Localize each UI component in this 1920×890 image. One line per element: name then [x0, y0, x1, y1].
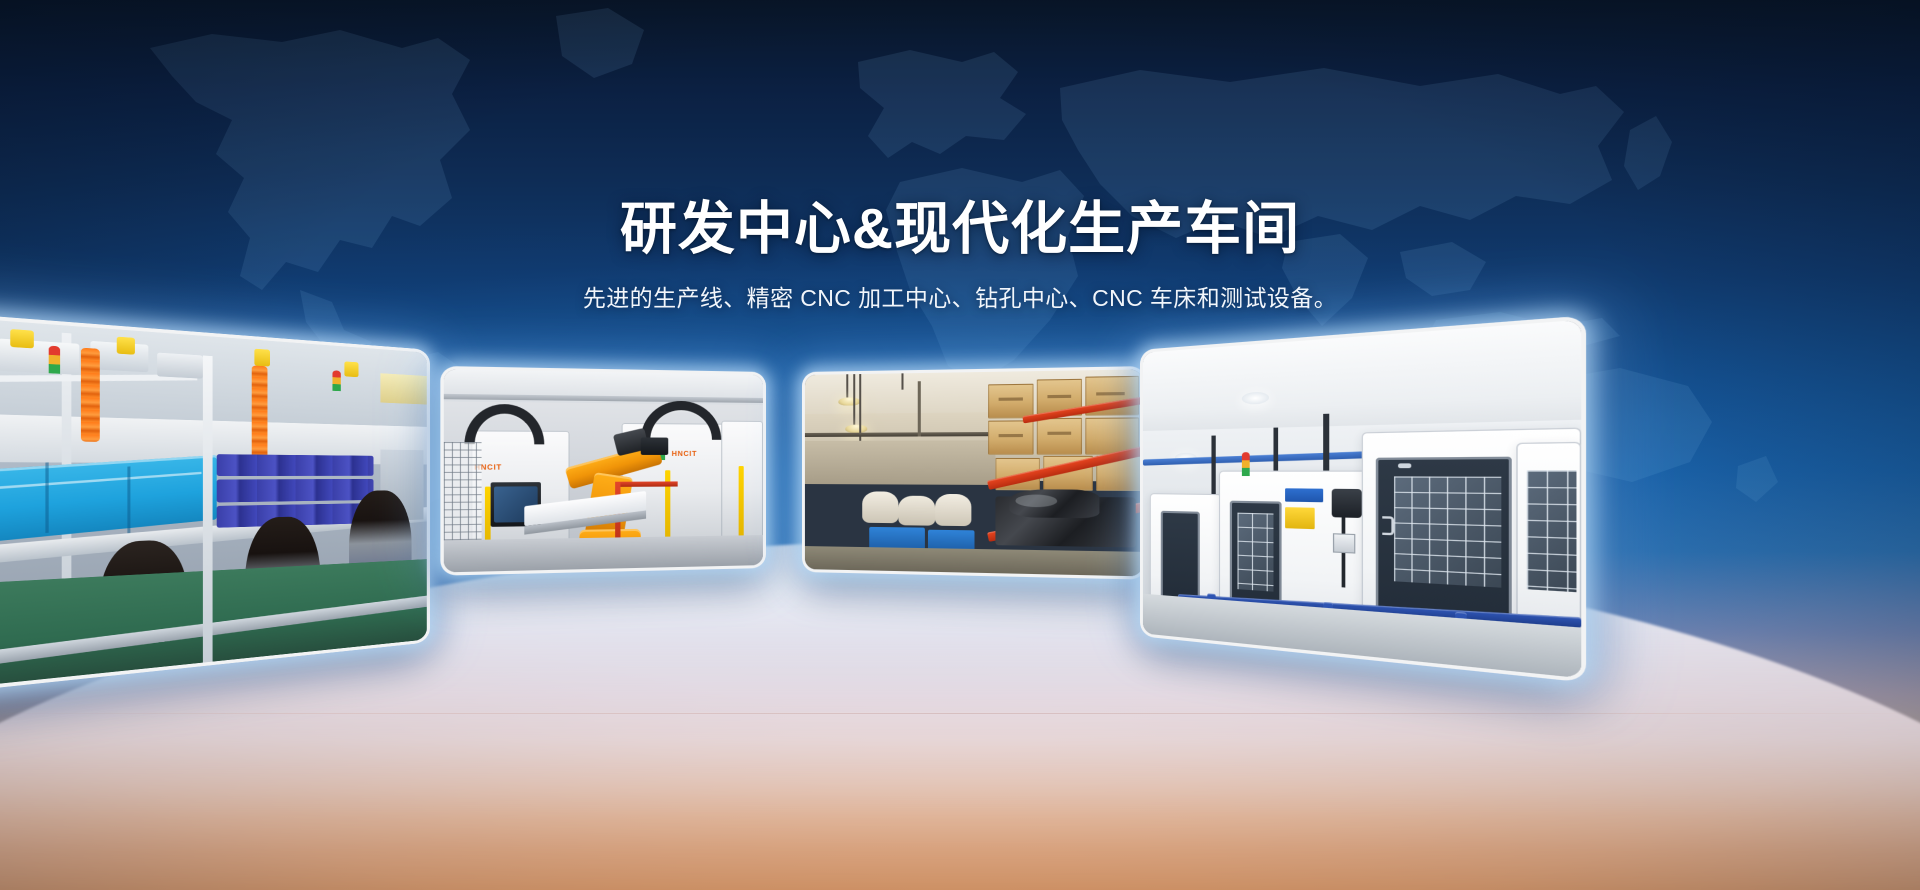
gallery-panel-cnc-lathe-room[interactable]: [1140, 315, 1586, 682]
hero-text-block: 研发中心&现代化生产车间 先进的生产线、精密 CNC 加工中心、钻孔中心、CNC…: [0, 196, 1920, 314]
panel-frame: [1140, 315, 1586, 682]
brand-decal: [1285, 489, 1322, 502]
pendant-lamp: [838, 398, 860, 406]
cable-carrier: [464, 404, 544, 445]
panel-frame: [0, 312, 430, 694]
wall-socket: [1333, 533, 1355, 553]
gallery-panel-cnc-machining-center[interactable]: HNCIT HNCIT: [440, 366, 766, 576]
white-sack: [863, 492, 899, 524]
gallery-panel-warehouse[interactable]: [802, 366, 1146, 580]
machine-brand-label: HNCIT: [672, 451, 697, 458]
yellow-tag: [116, 336, 134, 354]
white-sack: [898, 496, 934, 526]
photo-assembly-line: [0, 316, 427, 689]
page-subtitle: 先进的生产线、精密 CNC 加工中心、钻孔中心、CNC 车床和测试设备。: [0, 282, 1920, 314]
safety-mesh-fence: [444, 442, 481, 548]
panel-frame: [802, 366, 1146, 580]
photo-cnc-machining-center: HNCIT HNCIT: [444, 369, 763, 572]
photo-cnc-lathe-room: [1143, 320, 1581, 679]
safety-rail: [615, 482, 678, 487]
machine-window: [1237, 512, 1272, 592]
door-handle: [1398, 464, 1411, 469]
yellow-tag: [345, 362, 359, 378]
cable-carrier: [640, 400, 720, 439]
status-tower-light: [48, 345, 59, 374]
machine-window: [1393, 477, 1500, 587]
white-sack: [935, 494, 972, 526]
blue-bin-rack: [217, 479, 373, 502]
hero-banner: 研发中心&现代化生产车间 先进的生产线、精密 CNC 加工中心、钻孔中心、CNC…: [0, 0, 1920, 890]
coiled-air-hose: [81, 348, 100, 442]
carton-box: [1037, 417, 1082, 454]
page-title: 研发中心&现代化生产车间: [0, 196, 1920, 262]
yellow-tag: [254, 349, 270, 366]
machine-window: [1527, 470, 1576, 592]
status-tower-light: [332, 370, 340, 392]
coiled-air-hose: [252, 365, 268, 461]
yellow-tag: [10, 329, 33, 349]
warning-decal: [1285, 507, 1314, 529]
control-pendant: [1331, 489, 1362, 518]
gallery-panel-assembly-line[interactable]: [0, 312, 430, 694]
photo-warehouse: [805, 369, 1142, 576]
blue-bin-rack: [217, 454, 373, 477]
rack-upright: [985, 376, 992, 573]
status-tower-light: [1241, 453, 1249, 477]
panel-frame: HNCIT HNCIT: [440, 366, 766, 576]
door-handle: [1382, 516, 1394, 536]
